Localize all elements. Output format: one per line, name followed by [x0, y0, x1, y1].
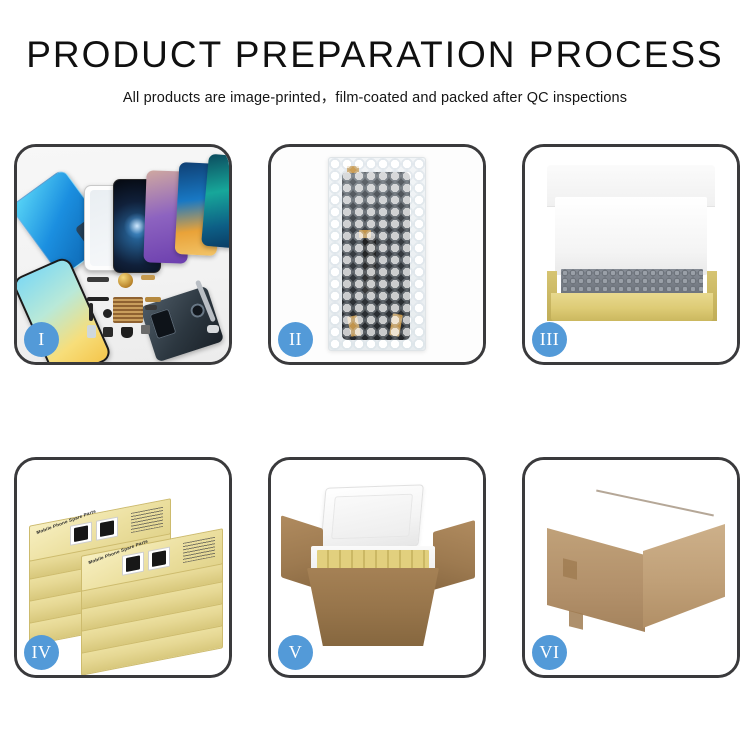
carton-body-icon [307, 568, 439, 646]
gold-component-icon [118, 273, 133, 288]
box-window-icon [70, 522, 92, 546]
step-badge-3: III [532, 322, 567, 357]
carton-front-face-icon [547, 528, 645, 632]
bubble-texture-overlay [329, 158, 425, 350]
step-card-3[interactable]: III [522, 144, 740, 365]
flex-cable-icon [87, 297, 109, 301]
camera-module-icon [103, 327, 113, 337]
box-spec-lines-icon [183, 537, 215, 563]
box-spec-lines-icon [131, 507, 163, 533]
step-card-1[interactable]: I [14, 144, 232, 365]
carton-tape-icon [563, 558, 577, 579]
step-card-2[interactable]: II [268, 144, 486, 365]
process-steps-grid: I II [14, 144, 736, 678]
box-window-icon [122, 552, 144, 576]
product-preparation-poster: PRODUCT PREPARATION PROCESS All products… [0, 0, 750, 750]
foam-sheet-icon [555, 197, 707, 275]
poster-header: PRODUCT PREPARATION PROCESS All products… [0, 0, 750, 107]
step-badge-6: VI [532, 635, 567, 670]
taptic-engine-icon [121, 327, 133, 338]
flex-cable-icon [145, 305, 157, 310]
bubble-wrap-bag-icon [328, 157, 426, 351]
step-badge-4: IV [24, 635, 59, 670]
spare-part-icon [141, 275, 155, 280]
page-title: PRODUCT PREPARATION PROCESS [0, 36, 750, 75]
carton-side-face-icon [643, 524, 725, 628]
flex-cable-icon [89, 303, 93, 321]
box-window-icon [96, 517, 118, 541]
step-badge-5: V [278, 635, 313, 670]
speaker-icon [103, 309, 112, 318]
flex-cable-icon [145, 297, 161, 302]
step-badge-1: I [24, 322, 59, 357]
step-card-6[interactable]: VI [522, 457, 740, 678]
yellow-box-front-icon [551, 293, 713, 321]
screw-bracket-icon [141, 325, 150, 334]
step-card-4[interactable]: Mobile Phone Spare Parts Mobile Phone Sp… [14, 457, 232, 678]
logic-board-icon [113, 297, 143, 323]
battery-connector-icon [87, 325, 96, 338]
carton-flap-right-icon [433, 520, 475, 590]
small-tool-icon [207, 325, 219, 333]
step-card-5[interactable]: V [268, 457, 486, 678]
spare-part-icon [87, 277, 109, 282]
retail-box-stack-icon: Mobile Phone Spare Parts Mobile Phone Sp… [25, 482, 225, 668]
carton-tape-icon [569, 610, 583, 629]
box-window-icon [148, 547, 170, 571]
foam-lid-icon [320, 484, 424, 549]
step-badge-2: II [278, 322, 313, 357]
page-subtitle: All products are image-printed，film-coat… [0, 86, 750, 107]
